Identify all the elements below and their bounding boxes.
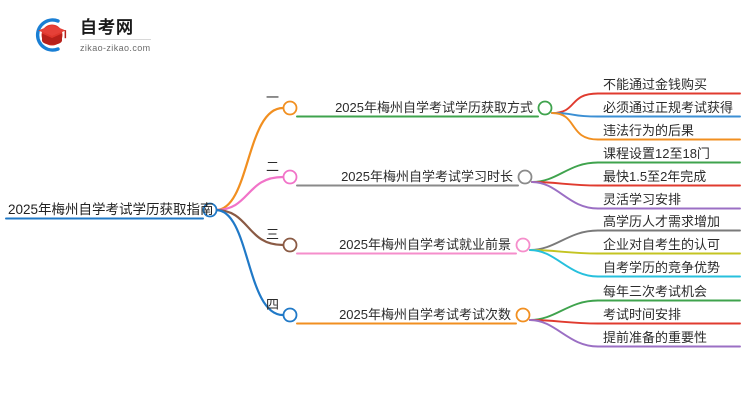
mindmap-edge bbox=[530, 301, 598, 321]
leaf-label-2-3[interactable]: 灵活学习安排 bbox=[603, 192, 681, 208]
mindmap-branch-label-node-4[interactable] bbox=[517, 309, 530, 322]
branch-ordinal-1[interactable]: 一 bbox=[266, 90, 279, 106]
mindmap-root-label[interactable]: 2025年梅州自学考试学历获取指南 bbox=[8, 202, 214, 218]
leaf-label-3-1[interactable]: 高学历人才需求增加 bbox=[603, 214, 720, 230]
leaf-label-4-3[interactable]: 提前准备的重要性 bbox=[603, 330, 707, 346]
mindmap-branch-label-node-1[interactable] bbox=[539, 102, 552, 115]
mindmap-branch-node-1[interactable] bbox=[284, 102, 297, 115]
leaf-label-3-2[interactable]: 企业对自考生的认可 bbox=[603, 237, 720, 253]
branch-ordinal-3[interactable]: 三 bbox=[266, 227, 279, 243]
leaf-label-1-2[interactable]: 必须通过正规考试获得 bbox=[603, 100, 733, 116]
leaf-label-2-2[interactable]: 最快1.5至2年完成 bbox=[603, 169, 706, 185]
mindmap-branch-node-2[interactable] bbox=[284, 171, 297, 184]
mindmap-edge bbox=[532, 163, 598, 183]
mindmap-edge bbox=[530, 231, 598, 251]
mindmap-branch-label-node-3[interactable] bbox=[517, 239, 530, 252]
branch-label-2[interactable]: 2025年梅州自学考试学习时长 bbox=[341, 169, 513, 185]
mindmap-branch-node-4[interactable] bbox=[284, 309, 297, 322]
leaf-label-1-3[interactable]: 违法行为的后果 bbox=[603, 123, 694, 139]
leaf-label-1-1[interactable]: 不能通过金钱购买 bbox=[603, 77, 707, 93]
leaf-label-4-2[interactable]: 考试时间安排 bbox=[603, 307, 681, 323]
mindmap-branch-node-3[interactable] bbox=[284, 239, 297, 252]
branch-label-1[interactable]: 2025年梅州自学考试学历获取方式 bbox=[335, 100, 533, 116]
branch-label-3[interactable]: 2025年梅州自学考试就业前景 bbox=[339, 237, 511, 253]
mindmap-edge bbox=[552, 94, 598, 114]
mindmap-branch-label-node-2[interactable] bbox=[519, 171, 532, 184]
branch-ordinal-2[interactable]: 二 bbox=[266, 159, 279, 175]
branch-ordinal-4[interactable]: 四 bbox=[266, 297, 279, 313]
leaf-label-2-1[interactable]: 课程设置12至18门 bbox=[603, 146, 710, 162]
leaf-label-4-1[interactable]: 每年三次考试机会 bbox=[603, 284, 707, 300]
branch-label-4[interactable]: 2025年梅州自学考试考试次数 bbox=[339, 307, 511, 323]
leaf-label-3-3[interactable]: 自考学历的竞争优势 bbox=[603, 260, 720, 276]
